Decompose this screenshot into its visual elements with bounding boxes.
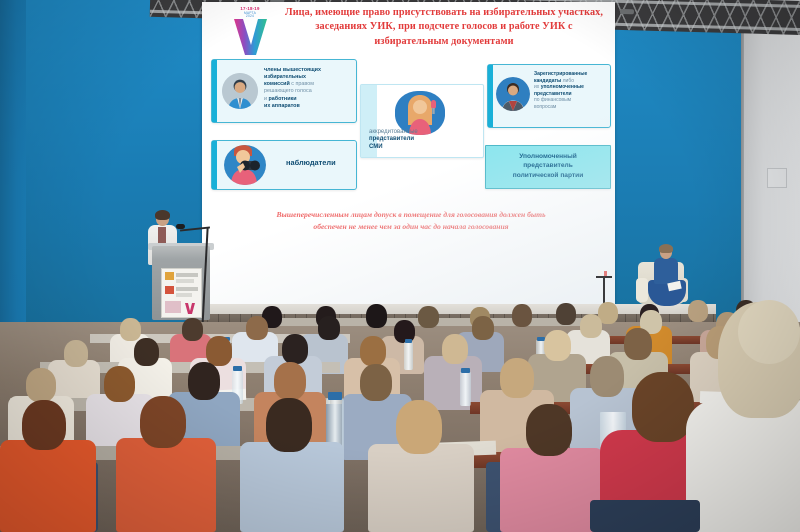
audience-head bbox=[472, 316, 494, 340]
audience-head bbox=[580, 314, 602, 338]
card1-l4: с правом bbox=[290, 81, 314, 87]
card-text: Уполномоченный представитель политическо… bbox=[490, 152, 606, 180]
audience-head bbox=[120, 318, 141, 341]
card-text: Зарегистрированные кандидаты либо их упо… bbox=[534, 71, 606, 111]
audience-head bbox=[366, 304, 387, 328]
card1-l8: их аппаратов bbox=[264, 103, 300, 109]
audience-head bbox=[500, 358, 534, 398]
card-accent-bar bbox=[212, 60, 217, 122]
audience-head bbox=[282, 334, 308, 364]
card5-l2: представитель bbox=[523, 162, 573, 169]
audience-head bbox=[104, 366, 135, 402]
card-observers: наблюдатели bbox=[211, 140, 357, 190]
audience-head bbox=[26, 368, 56, 402]
wall-plate bbox=[767, 168, 787, 188]
card1-l5: решающего голоса bbox=[264, 88, 312, 94]
grey-wall-right bbox=[744, 0, 800, 330]
election-v-logo: 17-18-19 МАРТА 2024 bbox=[226, 6, 274, 58]
audience-torso bbox=[368, 444, 474, 532]
side-table-leg bbox=[603, 277, 605, 303]
poster-row-2 bbox=[176, 279, 194, 283]
foreground-torso-white bbox=[686, 400, 800, 532]
audience-head bbox=[22, 400, 66, 450]
card5-l1: Уполномоченный bbox=[519, 153, 577, 160]
card3-l6: представители bbox=[534, 91, 572, 97]
armchair-arm-left bbox=[636, 278, 648, 302]
card3-l5: уполномоченные bbox=[541, 84, 584, 90]
card1-l3: комиссий bbox=[264, 81, 290, 87]
poster-icon-2 bbox=[165, 286, 174, 294]
truss-lamp bbox=[620, 9, 634, 14]
poster-icon-3 bbox=[165, 301, 181, 313]
audience-head bbox=[360, 364, 392, 401]
water-glass bbox=[598, 270, 602, 276]
poster-icon-1 bbox=[165, 272, 174, 280]
card2-l1: аккредитованные bbox=[369, 129, 418, 135]
audience-head bbox=[266, 398, 312, 452]
man-with-binoculars-avatar bbox=[224, 145, 266, 185]
card3-l2: кандидаты bbox=[534, 78, 561, 84]
card-text: члены вышестоящих избирательных комиссий… bbox=[264, 67, 350, 110]
man-in-suit-avatar bbox=[496, 77, 530, 111]
card2-l3: СМИ bbox=[369, 144, 383, 150]
card-commission-members: члены вышестоящих избирательных комиссий… bbox=[211, 59, 357, 123]
audience-head bbox=[360, 336, 386, 366]
seated-guest-in-armchair bbox=[650, 246, 682, 308]
card-accent-bar bbox=[212, 141, 217, 189]
bottle-cap bbox=[461, 368, 470, 373]
poster-row-4 bbox=[176, 293, 192, 297]
presenter-hair bbox=[155, 210, 170, 220]
foreground-hair-blonde bbox=[738, 300, 800, 364]
audience-head bbox=[442, 334, 468, 364]
audience-head bbox=[526, 404, 572, 456]
projection-screen: 17-18-19 МАРТА 2024 Лица, имеющие право … bbox=[202, 2, 615, 314]
audience-head bbox=[512, 304, 532, 327]
blue-wall-left bbox=[0, 0, 28, 336]
poster-row-1 bbox=[176, 273, 198, 277]
footnote-line-2: обеспечен не менее чем за один час до на… bbox=[313, 222, 508, 231]
v-mark-icon bbox=[232, 18, 268, 56]
water-bottle bbox=[404, 342, 413, 370]
audience-head bbox=[396, 400, 442, 454]
audience-torso bbox=[500, 448, 604, 532]
card3-l3: либо bbox=[561, 78, 574, 84]
card-accent-bar bbox=[488, 65, 493, 127]
card-media-representatives: аккредитованные представители СМИ bbox=[360, 84, 484, 158]
card-registered-candidates: Зарегистрированные кандидаты либо их упо… bbox=[487, 64, 611, 128]
guest-hair bbox=[659, 244, 673, 253]
audience-head bbox=[556, 303, 576, 325]
audience-head bbox=[134, 338, 159, 366]
bottle-cap bbox=[328, 392, 342, 400]
card5-l3: политической партии bbox=[513, 172, 584, 179]
card1-l7: работники bbox=[269, 96, 297, 102]
water-bottle bbox=[460, 372, 471, 406]
flower-vase bbox=[604, 271, 607, 276]
card2-l2: представители bbox=[369, 136, 414, 142]
audience-head bbox=[590, 356, 624, 397]
footnote-line-1: Вышеперечисленным лицам допуск в помещен… bbox=[276, 210, 545, 219]
slide-footnote: Вышеперечисленным лицам допуск в помещен… bbox=[226, 209, 596, 233]
audience-head bbox=[140, 396, 186, 448]
audience-head bbox=[418, 306, 439, 328]
audience-head bbox=[182, 318, 203, 341]
man-in-blue-shirt-avatar bbox=[222, 73, 258, 109]
audience-head bbox=[64, 340, 88, 367]
card3-l4: их bbox=[534, 84, 541, 90]
audience-head bbox=[688, 300, 708, 322]
election-information-poster bbox=[161, 268, 202, 318]
card3-l8: вопросам bbox=[534, 104, 556, 110]
card-party-representative: Уполномоченный представитель политическо… bbox=[485, 145, 611, 189]
bottle-cap bbox=[405, 339, 412, 343]
bottle-cap bbox=[233, 366, 242, 371]
card4-label: наблюдатели bbox=[286, 158, 352, 168]
card-text: аккредитованные представители СМИ bbox=[369, 129, 477, 152]
poster-row-3 bbox=[176, 287, 198, 291]
audience-torso bbox=[0, 440, 96, 532]
card1-l2: избирательных bbox=[264, 74, 306, 80]
foreground-head bbox=[632, 372, 694, 442]
audience-head bbox=[624, 328, 652, 360]
audience-head bbox=[544, 330, 571, 361]
poster-v-mark-icon bbox=[185, 303, 195, 314]
audience-torso bbox=[116, 438, 216, 532]
card3-l7: по финансовым bbox=[534, 97, 571, 103]
audience-head bbox=[188, 362, 220, 400]
audience-head bbox=[318, 316, 340, 340]
microphone-head bbox=[176, 224, 185, 229]
audience-head bbox=[274, 362, 306, 400]
guest-torso bbox=[654, 258, 678, 284]
card1-l1: члены вышестоящих bbox=[264, 67, 321, 73]
slide-title: Лица, имеющие право присутствовать на из… bbox=[284, 6, 604, 49]
audience-head bbox=[246, 316, 268, 340]
card3-l1: Зарегистрированные bbox=[534, 71, 587, 77]
audience-torso bbox=[240, 442, 344, 532]
audience-head bbox=[206, 336, 232, 366]
audience-chair bbox=[590, 500, 700, 532]
conference-hall-photo: 17-18-19 МАРТА 2024 Лица, имеющие право … bbox=[0, 0, 800, 532]
